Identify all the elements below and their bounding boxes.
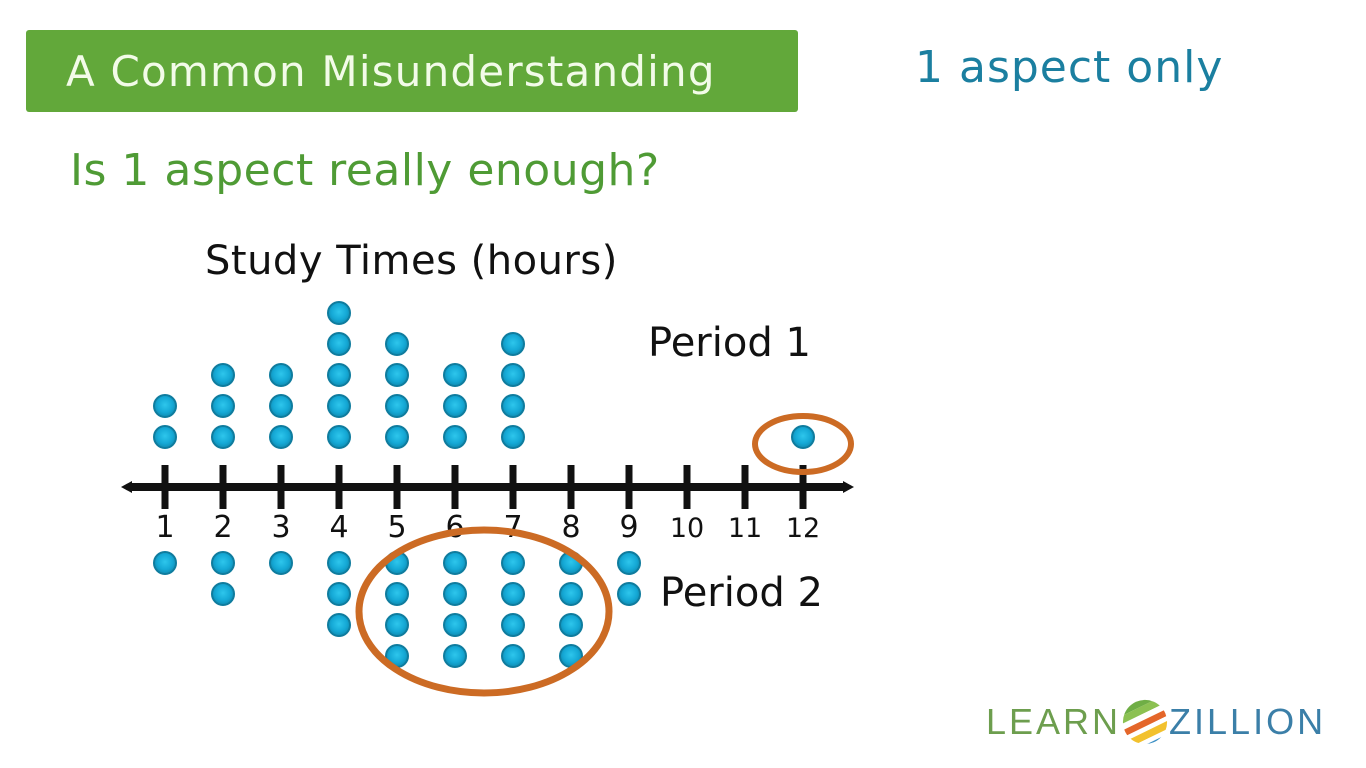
axis-tick-label: 1 — [155, 510, 174, 545]
data-dot — [212, 395, 234, 417]
data-dot — [502, 645, 524, 667]
axis-tick-label: 12 — [786, 513, 820, 544]
axis-tick-label: 3 — [271, 510, 290, 545]
data-dot — [212, 426, 234, 448]
data-dot — [212, 552, 234, 574]
data-dot — [328, 395, 350, 417]
dots-period-2 — [154, 552, 640, 667]
data-dot — [154, 395, 176, 417]
data-dot — [792, 426, 814, 448]
data-dot — [444, 395, 466, 417]
data-dot — [444, 614, 466, 636]
data-dot — [386, 395, 408, 417]
data-dot — [328, 426, 350, 448]
data-dot — [502, 614, 524, 636]
axis-tick-label: 7 — [503, 510, 522, 545]
axis-tick-label: 5 — [387, 510, 406, 545]
data-dot — [212, 583, 234, 605]
data-dot — [386, 333, 408, 355]
axis-tick-label: 11 — [728, 513, 762, 544]
data-dot — [328, 333, 350, 355]
data-dot — [502, 333, 524, 355]
data-dot — [386, 426, 408, 448]
dots-period-1 — [154, 302, 814, 448]
data-dot — [444, 645, 466, 667]
logo-word-learn: LEARN — [986, 701, 1121, 743]
data-dot — [270, 364, 292, 386]
data-dot — [386, 583, 408, 605]
data-dot — [502, 364, 524, 386]
data-dot — [328, 583, 350, 605]
data-dot — [502, 395, 524, 417]
axis-tick-label: 8 — [561, 510, 580, 545]
data-dot — [328, 364, 350, 386]
data-dot — [270, 552, 292, 574]
data-dot — [618, 552, 640, 574]
data-dot — [270, 395, 292, 417]
data-dot — [328, 302, 350, 324]
data-dot — [502, 552, 524, 574]
data-dot — [444, 583, 466, 605]
data-dot — [328, 614, 350, 636]
globe-stripes-icon — [1122, 699, 1168, 745]
data-dot — [502, 426, 524, 448]
data-dot — [444, 364, 466, 386]
data-dot — [328, 552, 350, 574]
data-dot — [212, 364, 234, 386]
logo-word-zillion: ZILLION — [1169, 701, 1326, 743]
slide-root: A Common Misunderstanding 1 aspect only … — [0, 0, 1366, 768]
data-dot — [618, 583, 640, 605]
data-dot — [560, 583, 582, 605]
data-dot — [444, 552, 466, 574]
axis-tick-label: 9 — [619, 510, 638, 545]
data-dot — [386, 364, 408, 386]
data-dot — [560, 614, 582, 636]
axis-tick-label: 4 — [329, 510, 348, 545]
data-dot — [502, 583, 524, 605]
data-dot — [154, 552, 176, 574]
data-dot — [270, 426, 292, 448]
data-dot — [386, 614, 408, 636]
highlight-ellipse-cluster — [359, 530, 609, 693]
axis-tick-label: 10 — [670, 513, 704, 544]
axis-tick-label: 2 — [213, 510, 232, 545]
data-dot — [154, 426, 176, 448]
learnzillion-logo: LEARN ZILLIO — [986, 698, 1326, 746]
axis-tick-label: 6 — [445, 510, 464, 545]
dot-plot: 123456789101112 — [0, 0, 1366, 768]
data-dot — [444, 426, 466, 448]
